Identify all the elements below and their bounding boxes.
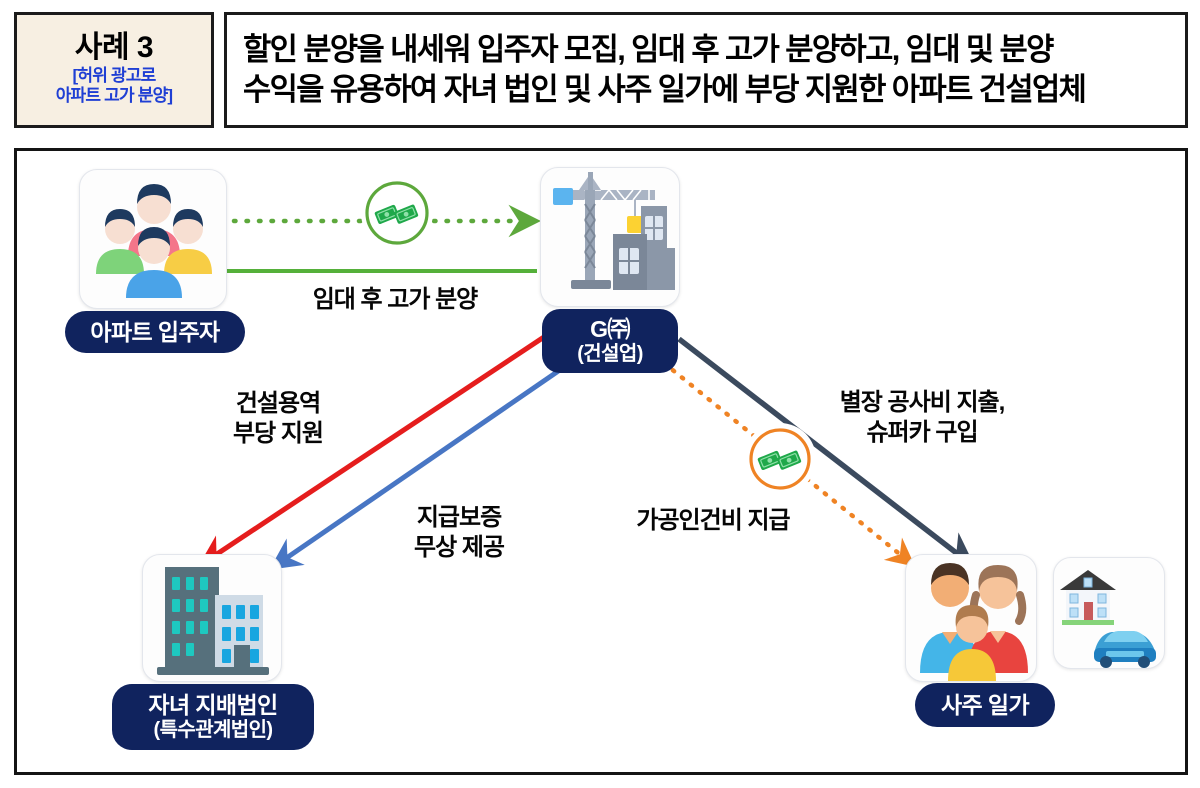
edge-label-construction-support-line-2: 부당 지원 xyxy=(169,419,387,449)
money-bills-icon xyxy=(361,177,433,249)
money-bills-icon xyxy=(744,423,816,495)
edge-label-payment-guarantee-line-1: 지급보증 xyxy=(359,503,559,533)
edge-label-fake-labor-cost: 가공인건비 지급 xyxy=(595,506,831,536)
node-child-corp-label[interactable]: 자녀 지배법인 (특수관계법인) xyxy=(112,684,314,750)
edge-label-construction-support-line-1: 건설용역 xyxy=(169,389,387,419)
case-subtitle-line-1: [허위 광고로 xyxy=(73,66,156,86)
node-owner-family-label[interactable]: 사주 일가 xyxy=(915,683,1055,727)
node-company-label-line-1: G㈜ xyxy=(590,316,630,343)
node-residents-label[interactable]: 아파트 입주자 xyxy=(65,311,245,353)
edge-label-sell-to-residents-text: 임대 후 고가 분양 xyxy=(313,286,478,313)
case-title-line-1: 할인 분양을 내세워 입주자 모집, 임대 후 고가 분양하고, 임대 및 분양 xyxy=(243,30,1053,70)
node-residents-label-text: 아파트 입주자 xyxy=(90,319,219,346)
node-owner-assets-icon-card[interactable] xyxy=(1053,557,1165,669)
node-child-corp-label-line-2: (특수관계법인) xyxy=(154,719,273,742)
edge-label-villa-supercar: 별장 공사비 지출, 슈퍼카 구입 xyxy=(807,388,1037,448)
money-chip-green xyxy=(361,177,433,249)
edge-label-fake-labor-cost-text: 가공인건비 지급 xyxy=(636,507,789,534)
case-title-box: 할인 분양을 내세워 입주자 모집, 임대 후 고가 분양하고, 임대 및 분양… xyxy=(224,12,1188,128)
node-company-label[interactable]: G㈜ (건설업) xyxy=(542,309,678,373)
diagram-canvas: 아파트 입주자 xyxy=(17,151,1185,772)
case-subtitle-line-2: 아파트 고가 분양] xyxy=(56,86,173,106)
node-owner-family-label-text: 사주 일가 xyxy=(941,692,1029,719)
office-building-icon xyxy=(143,555,282,682)
edge-label-villa-supercar-line-1: 별장 공사비 지출, xyxy=(807,388,1037,418)
edge-label-sell-to-residents: 임대 후 고가 분양 xyxy=(265,285,525,315)
infographic-page: 사례 3 [허위 광고로 아파트 고가 분양] 할인 분양을 내세워 입주자 모… xyxy=(0,0,1200,788)
edge-label-construction-support: 건설용역 부당 지원 xyxy=(169,389,387,449)
house-and-supercar-icon xyxy=(1054,558,1165,669)
node-residents-icon-card[interactable] xyxy=(79,169,227,309)
edge-label-payment-guarantee-line-2: 무상 제공 xyxy=(359,533,559,563)
money-chip-orange xyxy=(744,423,816,495)
node-child-corp-icon-card[interactable] xyxy=(142,554,282,682)
edge-label-villa-supercar-line-2: 슈퍼카 구입 xyxy=(807,418,1037,448)
node-owner-family-icon-card[interactable] xyxy=(905,554,1037,682)
node-company-icon-card[interactable] xyxy=(540,167,680,307)
people-group-icon xyxy=(80,170,227,309)
construction-crane-icon xyxy=(541,168,680,307)
node-child-corp-label-line-1: 자녀 지배법인 xyxy=(148,692,277,719)
case-number-label: 사례 3 xyxy=(75,32,153,64)
family-icon xyxy=(906,555,1037,682)
edge-label-payment-guarantee: 지급보증 무상 제공 xyxy=(359,503,559,563)
node-company-label-line-2: (건설업) xyxy=(577,343,643,366)
case-number-box: 사례 3 [허위 광고로 아파트 고가 분양] xyxy=(14,12,214,128)
diagram-frame: 아파트 입주자 xyxy=(14,148,1188,775)
case-title-line-2: 수익을 유용하여 자녀 법인 및 사주 일가에 부당 지원한 아파트 건설업체 xyxy=(243,70,1085,110)
header-row: 사례 3 [허위 광고로 아파트 고가 분양] 할인 분양을 내세워 입주자 모… xyxy=(14,12,1188,128)
